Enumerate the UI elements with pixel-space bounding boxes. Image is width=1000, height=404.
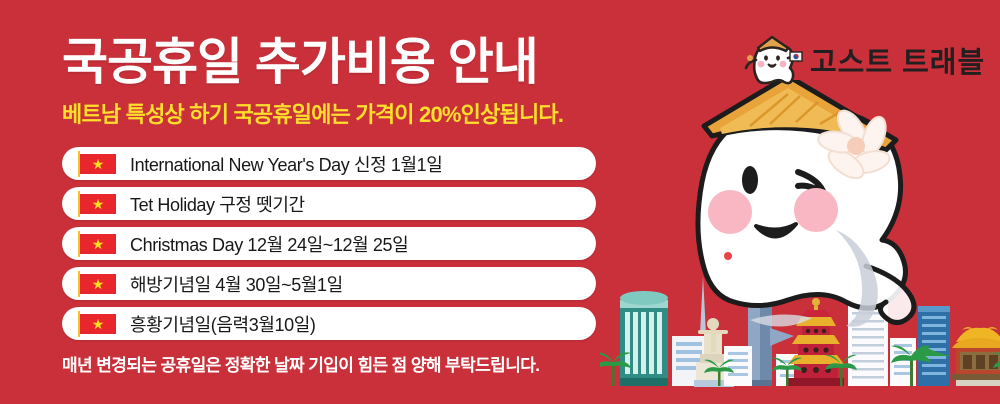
vietnam-flag-icon: ★ [78,151,122,177]
ghost-mouth [756,224,796,237]
golden-roof-temple [952,327,1000,386]
ghost-right-cheek [794,188,838,232]
vietnam-flag-icon: ★ [78,271,122,297]
brand-logo-text: 고스트 트래블 [810,39,985,81]
white-apartment-block [724,346,806,386]
list-item: ★ International New Year's Day 신정 1월1일 [62,147,596,180]
ghost-mascot-winking-icon [600,80,1000,404]
star-icon: ★ [92,237,105,251]
holiday-label: International New Year's Day 신정 1월1일 [130,151,442,177]
palm-trees [600,345,1000,386]
korean-flag-icon [790,52,802,61]
holiday-label: 흥황기념일(음력3월10일) [130,311,315,337]
white-grid-tower [848,294,888,386]
ghost-wink-eye [798,172,824,194]
vietnam-flag-icon: ★ [78,311,122,337]
statue-monument [694,276,734,387]
holiday-label: 해방기념일 4월 30일~5월1일 [130,271,343,297]
blue-tower [918,306,950,386]
list-item: ★ 흥황기념일(음력3월10일) [62,307,596,340]
ghost-left-cheek [708,190,752,234]
white-low-block [672,336,706,386]
brand-logo[interactable]: 고스트 트래블 [742,32,985,88]
vietnam-cityscape-icon [600,250,1000,404]
white-flower-icon [817,106,892,184]
white-side-tower [890,338,916,386]
holiday-list: ★ International New Year's Day 신정 1월1일 ★… [62,147,596,347]
page-subtitle: 베트남 특성상 하기 국공휴일에는 가격이 20%인상됩니다. [62,101,563,129]
red-pagoda [788,298,844,386]
holiday-surcharge-banner: 국공휴일 추가비용 안내 베트남 특성상 하기 국공휴일에는 가격이 20%인상… [0,0,1000,404]
teal-office-tower [620,291,668,386]
vietnam-flag-icon: ★ [78,191,122,217]
blue-glass-skyscraper [748,281,794,386]
star-icon: ★ [92,157,105,171]
ghost-left-eye [742,166,758,194]
vietnam-flag-icon: ★ [78,231,122,257]
ghost-with-conical-hat-icon [742,34,804,86]
page-title: 국공휴일 추가비용 안내 [62,33,538,91]
star-icon: ★ [92,317,105,331]
star-icon: ★ [92,277,105,291]
list-item: ★ 해방기념일 4월 30일~5월1일 [62,267,596,300]
list-item: ★ Tet Holiday 구정 뗏기간 [62,187,596,220]
holiday-label: Christmas Day 12월 24일~12월 25일 [130,231,408,257]
list-item: ★ Christmas Day 12월 24일~12월 25일 [62,227,596,260]
holiday-label: Tet Holiday 구정 뗏기간 [130,191,305,217]
star-icon: ★ [92,197,105,211]
footnote-text: 매년 변경되는 공휴일은 정확한 날짜 기입이 힘든 점 양해 부탁드립니다. [62,351,539,376]
